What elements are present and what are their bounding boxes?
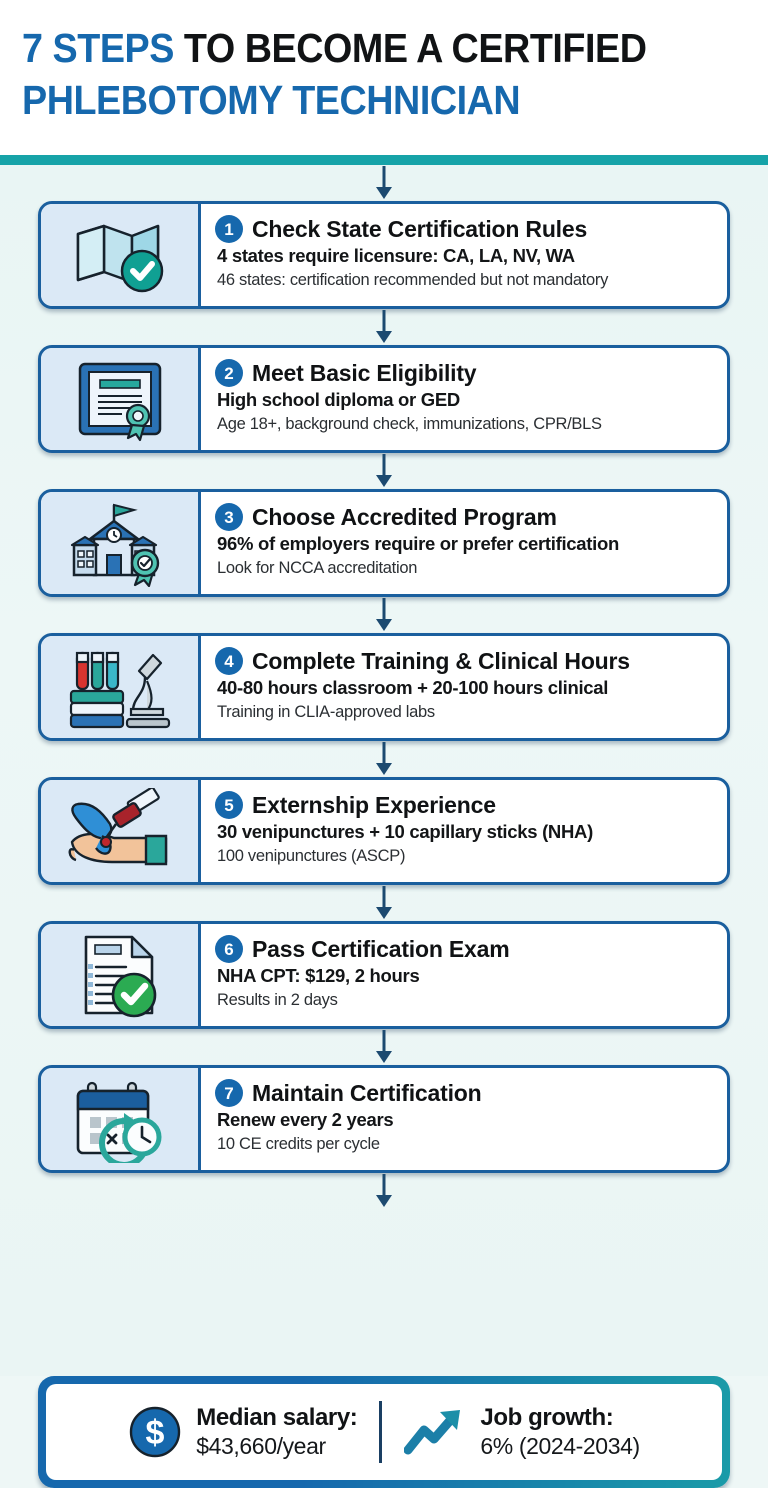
flow-arrow-5 (38, 885, 730, 921)
infographic-page: 7 STEPS TO BECOME A CERTIFIED PHLEBOTOMY… (0, 0, 768, 1376)
step-body-7: 7 Maintain Certification Renew every 2 y… (201, 1068, 727, 1170)
stat-median-salary: $ Median salary: $43,660/year (106, 1404, 379, 1459)
flow-arrow-1 (38, 309, 730, 345)
page-title-line2: PHLEBOTOMY TECHNICIAN (22, 74, 688, 126)
step-icon-pane-6 (41, 924, 201, 1026)
steps-flow: 1 Check State Certification Rules 4 stat… (0, 165, 768, 1376)
title-highlight: 7 STEPS (22, 25, 174, 71)
step-title-6: Pass Certification Exam (252, 936, 509, 963)
step-subtitle-7: Renew every 2 years (217, 1108, 721, 1133)
step-detail-7: 10 CE credits per cycle (217, 1133, 721, 1155)
step-subtitle-4: 40-80 hours classroom + 20-100 hours cli… (217, 676, 721, 701)
step-detail-3: Look for NCCA accreditation (217, 557, 721, 579)
step-detail-4: Training in CLIA-approved labs (217, 701, 721, 723)
step-title-3: Choose Accredited Program (252, 504, 557, 531)
school-building-icon (64, 499, 176, 587)
step-title-2: Meet Basic Eligibility (252, 360, 476, 387)
step-icon-pane-3 (41, 492, 201, 594)
salary-value: $43,660/year (196, 1433, 357, 1460)
map-check-icon (64, 214, 176, 296)
exam-document-check-icon (70, 931, 170, 1019)
footer-stats-panel: $ Median salary: $43,660/year Job growth… (38, 1376, 730, 1488)
step-subtitle-6: NHA CPT: $129, 2 hours (217, 964, 721, 989)
step-card-3[interactable]: 3 Choose Accredited Program 96% of emplo… (38, 489, 730, 597)
step-title-5: Externship Experience (252, 792, 496, 819)
step-detail-2: Age 18+, background check, immunizations… (217, 413, 721, 435)
growth-label: Job growth: (480, 1404, 639, 1432)
step-body-1: 1 Check State Certification Rules 4 stat… (201, 204, 727, 306)
step-body-5: 5 Externship Experience 30 venipunctures… (201, 780, 727, 882)
step-detail-5: 100 venipunctures (ASCP) (217, 845, 721, 867)
header: 7 STEPS TO BECOME A CERTIFIED PHLEBOTOMY… (0, 0, 768, 155)
page-title-line1: 7 STEPS TO BECOME A CERTIFIED (22, 22, 688, 74)
calendar-renewal-icon (66, 1075, 174, 1163)
stat-job-growth: Job growth: 6% (2024-2034) (382, 1404, 661, 1459)
step-number-badge-3: 3 (215, 503, 243, 531)
step-body-6: 6 Pass Certification Exam NHA CPT: $129,… (201, 924, 727, 1026)
trending-up-arrow-icon (404, 1406, 466, 1458)
flow-arrow-top (38, 165, 730, 201)
footer-stats-wrap: $ Median salary: $43,660/year Job growth… (0, 1376, 768, 1488)
step-title-4: Complete Training & Clinical Hours (252, 648, 630, 675)
step-icon-pane-4 (41, 636, 201, 738)
test-tubes-microscope-icon (61, 643, 179, 731)
step-icon-pane-1 (41, 204, 201, 306)
step-number-badge-6: 6 (215, 935, 243, 963)
flow-arrow-3 (38, 597, 730, 633)
step-card-2[interactable]: 2 Meet Basic Eligibility High school dip… (38, 345, 730, 453)
step-card-4[interactable]: 4 Complete Training & Clinical Hours 40-… (38, 633, 730, 741)
dollar-circle-icon: $ (128, 1405, 182, 1459)
salary-label: Median salary: (196, 1404, 357, 1432)
step-number-badge-5: 5 (215, 791, 243, 819)
step-icon-pane-5 (41, 780, 201, 882)
step-number-badge-4: 4 (215, 647, 243, 675)
flow-arrow-7 (38, 1173, 730, 1209)
step-subtitle-3: 96% of employers require or prefer certi… (217, 532, 721, 557)
flow-arrow-4 (38, 741, 730, 777)
step-number-badge-7: 7 (215, 1079, 243, 1107)
step-card-5[interactable]: 5 Externship Experience 30 venipunctures… (38, 777, 730, 885)
diploma-certificate-icon (70, 356, 170, 442)
step-number-badge-2: 2 (215, 359, 243, 387)
flow-arrow-6 (38, 1029, 730, 1065)
svg-text:$: $ (146, 1414, 165, 1452)
step-title-7: Maintain Certification (252, 1080, 481, 1107)
step-icon-pane-2 (41, 348, 201, 450)
step-card-6[interactable]: 6 Pass Certification Exam NHA CPT: $129,… (38, 921, 730, 1029)
step-title-1: Check State Certification Rules (252, 216, 587, 243)
step-detail-6: Results in 2 days (217, 989, 721, 1011)
step-card-1[interactable]: 1 Check State Certification Rules 4 stat… (38, 201, 730, 309)
step-subtitle-5: 30 venipunctures + 10 capillary sticks (… (217, 820, 721, 845)
header-divider (0, 155, 768, 165)
step-body-2: 2 Meet Basic Eligibility High school dip… (201, 348, 727, 450)
step-number-badge-1: 1 (215, 215, 243, 243)
flow-arrow-2 (38, 453, 730, 489)
step-body-4: 4 Complete Training & Clinical Hours 40-… (201, 636, 727, 738)
venipuncture-icon (58, 788, 182, 874)
step-subtitle-1: 4 states require licensure: CA, LA, NV, … (217, 244, 721, 269)
growth-value: 6% (2024-2034) (480, 1433, 639, 1460)
step-card-7[interactable]: 7 Maintain Certification Renew every 2 y… (38, 1065, 730, 1173)
step-detail-1: 46 states: certification recommended but… (217, 269, 721, 291)
step-subtitle-2: High school diploma or GED (217, 388, 721, 413)
step-icon-pane-7 (41, 1068, 201, 1170)
step-body-3: 3 Choose Accredited Program 96% of emplo… (201, 492, 727, 594)
title-rest: TO BECOME A CERTIFIED (174, 25, 647, 71)
